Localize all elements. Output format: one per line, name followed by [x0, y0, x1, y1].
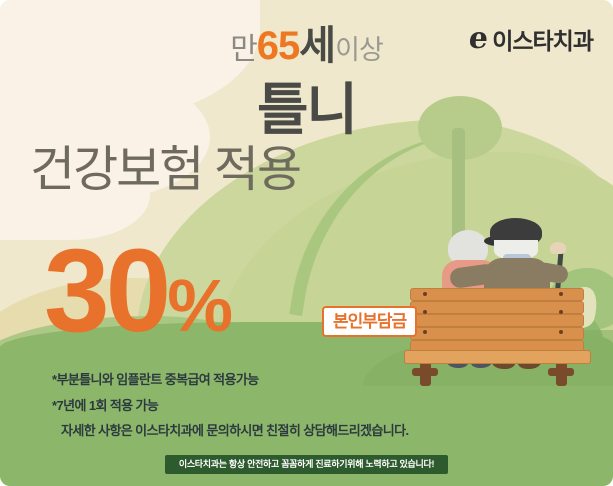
percent-number: 30 — [44, 225, 167, 357]
copayment-badge: 본인부담금 — [322, 306, 417, 337]
age-prefix: 만 — [230, 33, 257, 66]
percent-symbol: % — [167, 264, 231, 347]
banner-content: e 이스타치과 만65세이상 틀니 건강보험 적용 30% 본인부담금 *부분틀… — [0, 0, 613, 486]
discount-percent: 30% — [44, 232, 231, 350]
footer-bar: 이스타치과는 항상 안전하고 꼼꼼하게 진료하기위해 노력하고 있습니다! — [0, 454, 613, 474]
age-eligibility-line: 만65세이상 — [0, 26, 613, 66]
age-number: 65 — [257, 24, 300, 68]
age-unit: 세 — [299, 24, 335, 68]
disclaimer-notes: *부분틀니와 임플란트 중복급여 적용가능 *7년에 1회 적용 가능 자세한 … — [52, 372, 409, 449]
dental-clinic-promo-banner: e 이스타치과 만65세이상 틀니 건강보험 적용 30% 본인부담금 *부분틀… — [0, 0, 613, 486]
note-line-2: *7년에 1회 적용 가능 — [52, 398, 409, 414]
note-line-1: *부분틀니와 임플란트 중복급여 적용가능 — [52, 372, 409, 388]
note-line-3: 자세한 사항은 이스타치과에 문의하시면 친절히 상담해드리겠습니다. — [52, 423, 409, 439]
headline-dentures: 틀니 — [0, 82, 613, 138]
age-suffix: 이상 — [335, 35, 383, 65]
footer-slogan: 이스타치과는 항상 안전하고 꼼꼼하게 진료하기위해 노력하고 있습니다! — [165, 455, 448, 474]
subheadline-insurance-coverage: 건강보험 적용 — [30, 146, 300, 195]
